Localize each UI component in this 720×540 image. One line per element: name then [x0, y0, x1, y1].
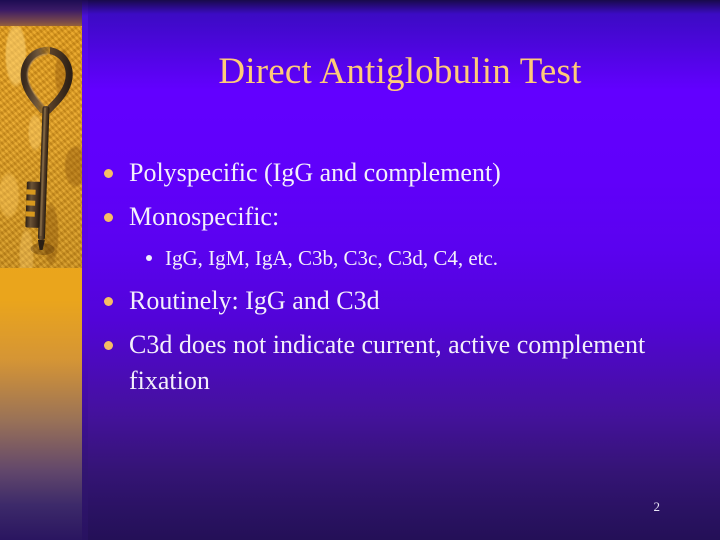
bullet-item: Routinely: IgG and C3d: [104, 283, 684, 319]
key-icon: [12, 43, 75, 259]
old-iron-key-photo: [0, 26, 88, 268]
bullet-text: Monospecific:: [129, 199, 684, 235]
bullet-text: C3d does not indicate current, active co…: [129, 327, 684, 399]
bullet-dot-icon: [104, 341, 113, 350]
sub-bullet-item: IgG, IgM, IgA, C3b, C3c, C3d, C4, etc.: [146, 243, 684, 273]
sub-bullet-dot-icon: [146, 255, 152, 261]
slide-page-number: 2: [654, 499, 661, 514]
bullet-dot-icon: [104, 213, 113, 222]
slide-body-bullet-list: Polyspecific (IgG and complement) Monosp…: [104, 155, 684, 407]
bullet-item: C3d does not indicate current, active co…: [104, 327, 684, 399]
sidebar-accent-strip: [82, 0, 88, 540]
bullet-text: Routinely: IgG and C3d: [129, 283, 684, 319]
sub-bullet-text: IgG, IgM, IgA, C3b, C3c, C3d, C4, etc.: [165, 243, 684, 273]
bullet-dot-icon: [104, 169, 113, 178]
bullet-dot-icon: [104, 297, 113, 306]
slide-sidebar-decoration: [0, 0, 88, 540]
slide-title: Direct Antiglobulin Test: [100, 50, 700, 94]
bullet-text: Polyspecific (IgG and complement): [129, 155, 684, 191]
bullet-item: Polyspecific (IgG and complement): [104, 155, 684, 191]
bullet-item: Monospecific:: [104, 199, 684, 235]
presentation-slide: Direct Antiglobulin Test Polyspecific (I…: [0, 0, 720, 540]
